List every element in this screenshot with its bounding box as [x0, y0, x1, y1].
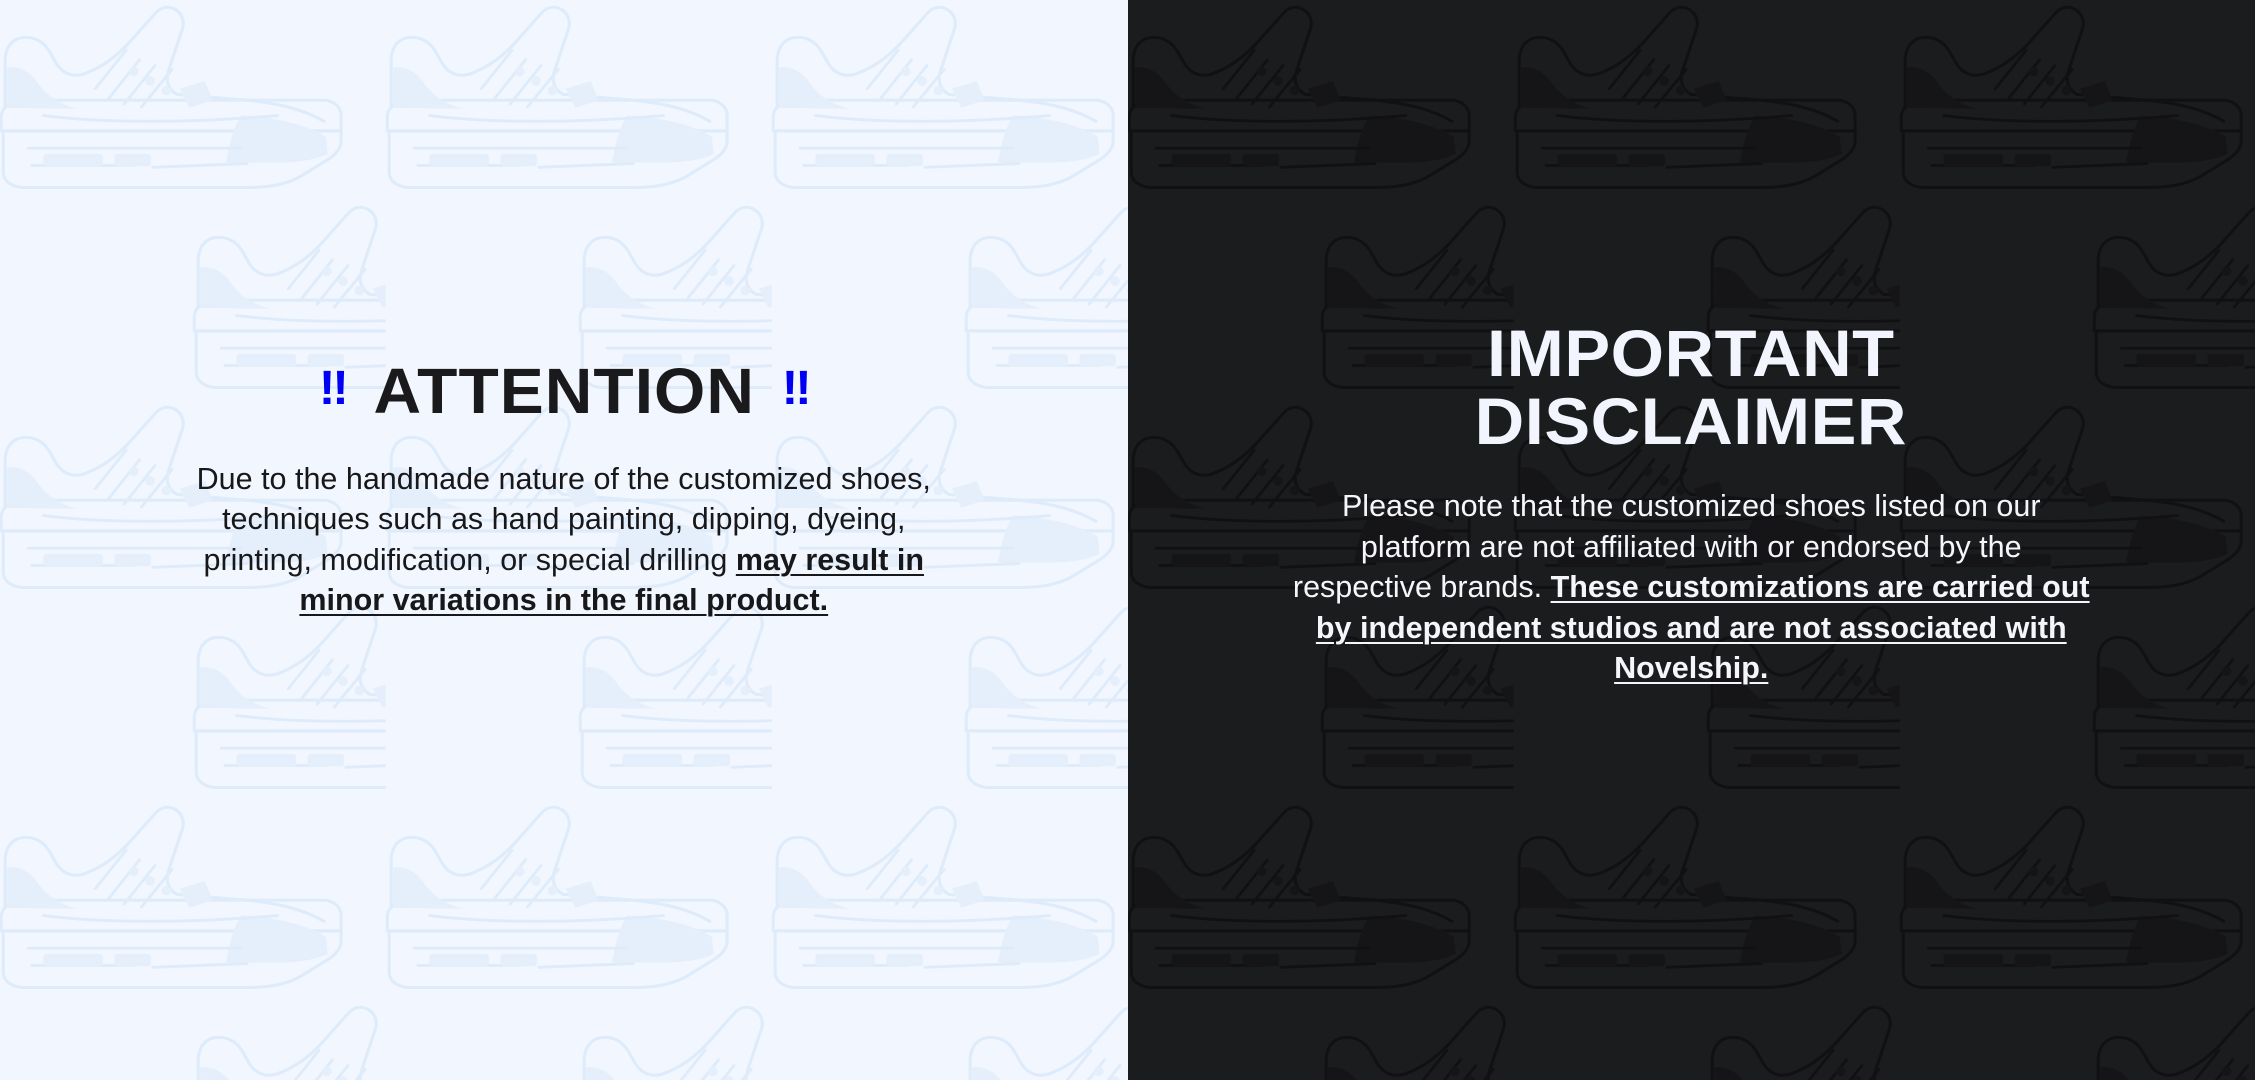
disclaimer-heading: IMPORTANT DISCLAIMER — [1475, 320, 1907, 456]
disclaimer-heading-line-2: DISCLAIMER — [1475, 388, 1907, 456]
customization-notice-banner: ‼ ATTENTION ‼ Due to the handmade nature… — [0, 0, 2255, 1080]
double-exclamation-icon-leading: ‼ — [318, 365, 346, 413]
attention-heading-text: ATTENTION — [373, 358, 755, 425]
disclaimer-content: IMPORTANT DISCLAIMER Please note that th… — [1128, 0, 2255, 689]
attention-panel: ‼ ATTENTION ‼ Due to the handmade nature… — [0, 0, 1128, 1080]
attention-heading: ‼ ATTENTION ‼ — [318, 358, 809, 425]
disclaimer-heading-line-1: IMPORTANT — [1475, 320, 1907, 388]
attention-content: ‼ ATTENTION ‼ Due to the handmade nature… — [0, 0, 1128, 621]
attention-body: Due to the handmade nature of the custom… — [169, 459, 959, 621]
double-exclamation-icon-trailing: ‼ — [781, 365, 809, 413]
disclaimer-body: Please note that the customized shoes li… — [1291, 486, 2091, 689]
disclaimer-panel: IMPORTANT DISCLAIMER Please note that th… — [1128, 0, 2255, 1080]
